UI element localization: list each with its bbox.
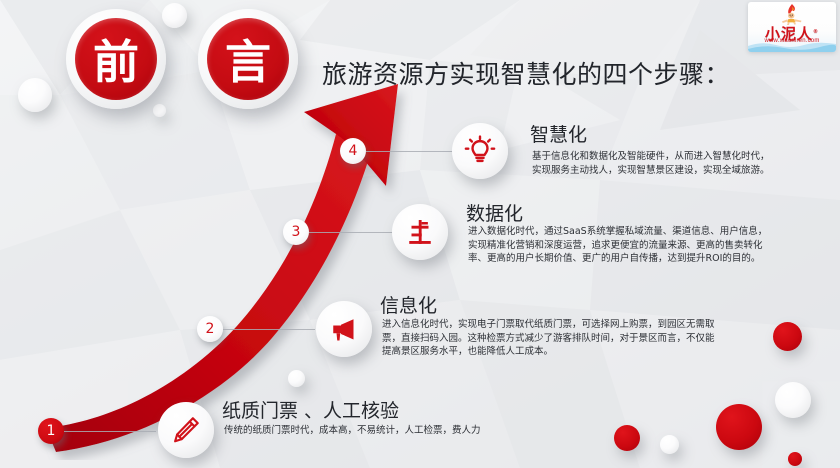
step-body-3-line-3: 率、更高的用户长期价值、更广的用户自传播，达到提升ROI的目的。 (468, 252, 767, 266)
slide-canvas: 前 言 旅游资源方实现智慧化的四个步骤： 1 (0, 0, 840, 468)
megaphone-icon (329, 314, 359, 344)
registered-mark: ® (813, 29, 819, 35)
step-number-4: 4 (340, 138, 366, 164)
step-connector-1 (64, 431, 156, 432)
step-connector-2 (223, 329, 315, 330)
step-title-3: 数据化 (466, 199, 523, 226)
step-title-4: 智慧化 (530, 120, 587, 147)
brand-logo[interactable]: 小泥人® www.xiaoniren.com (748, 2, 836, 52)
decor-sphere-red-upper (773, 322, 802, 351)
step-body-4-line-1: 基于信息化和数据化及智能硬件，从而进入智慧化时代， (532, 150, 770, 164)
step-body-2-line-3: 提高景区服务水平，也能降低人工成本。 (382, 345, 715, 359)
step-connector-3 (309, 232, 393, 233)
step-icon-1 (158, 402, 214, 458)
decor-sphere-red-small (788, 452, 802, 466)
step-body-3: 进入数据化时代，通过SaaS系统掌握私域流量、渠道信息、用户信息， 实现精准化营… (468, 225, 767, 266)
decor-sphere-white-large (775, 382, 811, 418)
step-body-4: 基于信息化和数据化及智能硬件，从而进入智慧化时代， 实现服务主动找人，实现智慧景… (532, 150, 770, 177)
step-body-2-line-1: 进入信息化时代，实现电子门票取代纸质门票，可选择网上购票，到园区无需取 (382, 318, 715, 332)
step-number-3: 3 (283, 219, 309, 245)
step-connector-4 (366, 151, 454, 152)
step-body-3-line-2: 实现精准化营销和深度运营，追求更便宜的流量来源、更高的售卖转化 (468, 239, 767, 253)
step-icon-2 (316, 301, 372, 357)
step-body-2: 进入信息化时代，实现电子门票取代纸质门票，可选择网上购票，到园区无需取 票，直接… (382, 318, 715, 359)
decor-sphere-white-small (660, 435, 679, 454)
step-icon-4 (452, 123, 508, 179)
logo-wave-decoration (748, 39, 836, 52)
step-number-2: 2 (197, 316, 223, 342)
step-title-2: 信息化 (380, 291, 437, 318)
step-number-1-label: 1 (47, 423, 56, 439)
pencil-icon (171, 415, 201, 445)
data-chart-icon (405, 217, 435, 247)
step-number-4-label: 4 (349, 143, 358, 159)
step-number-2-label: 2 (206, 321, 215, 337)
step-body-1-line-1: 传统的纸质门票时代，成本高，不易统计，人工检票，费人力 (224, 424, 481, 438)
lightbulb-icon (464, 135, 496, 167)
step-title-1: 纸质门票 、人工核验 (222, 396, 399, 423)
mascot-flame-icon (778, 3, 806, 25)
step-number-3-label: 3 (292, 224, 301, 240)
decor-sphere-red-edge (614, 425, 640, 451)
step-number-1: 1 (38, 418, 64, 444)
step-body-4-line-2: 实现服务主动找人，实现智慧景区建设，实现全域旅游。 (532, 164, 770, 178)
decor-sphere-top-small (162, 3, 187, 28)
step-body-3-line-1: 进入数据化时代，通过SaaS系统掌握私域流量、渠道信息、用户信息， (468, 225, 767, 239)
step-icon-3 (392, 204, 448, 260)
step-body-2-line-2: 票，直接扫码入园。这种检票方式减少了游客排队时间，对于景区而言，不仅能 (382, 332, 715, 346)
decor-sphere-red-large (716, 404, 762, 450)
step-body-1: 传统的纸质门票时代，成本高，不易统计，人工检票，费人力 (224, 424, 481, 438)
